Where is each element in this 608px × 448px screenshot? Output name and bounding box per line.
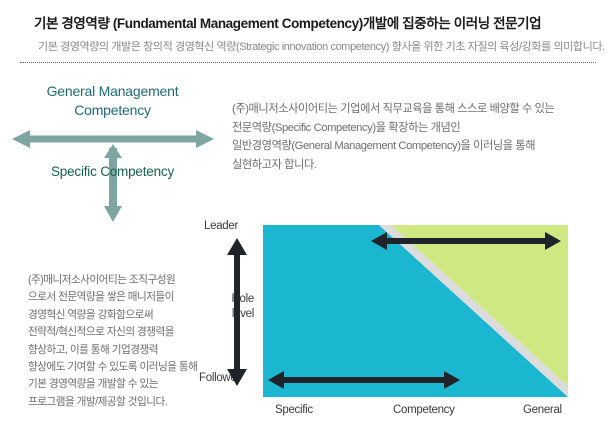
page-title: 기본 경영역량 (Fundamental Management Competen… bbox=[34, 12, 594, 32]
leader-general-double-headed-arrow-icon bbox=[371, 230, 561, 252]
detail-paragraph-line-1: (주)매니저소사이어티는 조직구성원 bbox=[28, 272, 218, 289]
y-axis-top-label: Leader bbox=[204, 220, 238, 232]
detail-paragraph-line-8: 프로그램을 개발/제공할 것입니다. bbox=[28, 394, 218, 411]
competency-role-level-chart: Leader Follower Role level Specific Comp… bbox=[196, 214, 608, 448]
follower-specific-double-headed-arrow-icon bbox=[268, 369, 460, 391]
detail-paragraph-line-6: 향상에도 기여할 수 있도록 이러닝을 통해 bbox=[28, 359, 218, 376]
detail-paragraph-line-7: 기본 경영역량을 개발할 수 있는 bbox=[28, 376, 218, 393]
intro-paragraph-line-1: (주)매니저소사이어티는 기업에서 직무교육을 통해 스스로 배양할 수 있는 bbox=[232, 100, 604, 119]
header-divider bbox=[20, 62, 596, 63]
intro-paragraph: (주)매니저소사이어티는 기업에서 직무교육을 통해 스스로 배양할 수 있는 … bbox=[232, 100, 604, 174]
detail-paragraph-line-5: 향상하고, 이를 통해 기업경쟁력 bbox=[28, 342, 218, 359]
x-axis-label-specific: Specific bbox=[275, 404, 313, 416]
detail-paragraph-line-4: 전략적/혁신적으로 자신의 경쟁력을 bbox=[28, 324, 218, 341]
page-subtitle: 기본 경영역량의 개발은 창의적 경영혁신 역량(Strategic innov… bbox=[38, 38, 598, 54]
intro-paragraph-line-4: 실현하고자 합니다. bbox=[232, 156, 604, 175]
general-management-competency-label: General Management Competency bbox=[0, 82, 225, 120]
general-management-competency-label-line1: General Management bbox=[0, 82, 225, 101]
detail-paragraph-line-3: 경영혁신 역량을 강화함으로써 bbox=[28, 307, 218, 324]
concept-diagram: General Management Competency Specific C… bbox=[0, 72, 225, 222]
detail-paragraph-line-2: 으로서 전문역량을 쌓은 매니저들이 bbox=[28, 289, 218, 306]
specific-competency-label: Specific Competency bbox=[0, 164, 225, 179]
role-level-axis-double-headed-vertical-arrow-icon bbox=[226, 238, 248, 386]
x-axis-label-general: General bbox=[523, 404, 562, 416]
intro-paragraph-line-2: 전문역량(Specific Competency)을 확장하는 개념인 bbox=[232, 119, 604, 138]
double-headed-vertical-arrow-icon bbox=[100, 144, 126, 222]
general-management-competency-label-line2: Competency bbox=[0, 101, 225, 120]
x-axis-label-competency: Competency bbox=[393, 404, 455, 416]
intro-paragraph-line-3: 일반경영역량(General Management Competency)을 이… bbox=[232, 137, 604, 156]
detail-paragraph: (주)매니저소사이어티는 조직구성원 으로서 전문역량을 쌓은 매니저들이 경영… bbox=[28, 272, 218, 411]
